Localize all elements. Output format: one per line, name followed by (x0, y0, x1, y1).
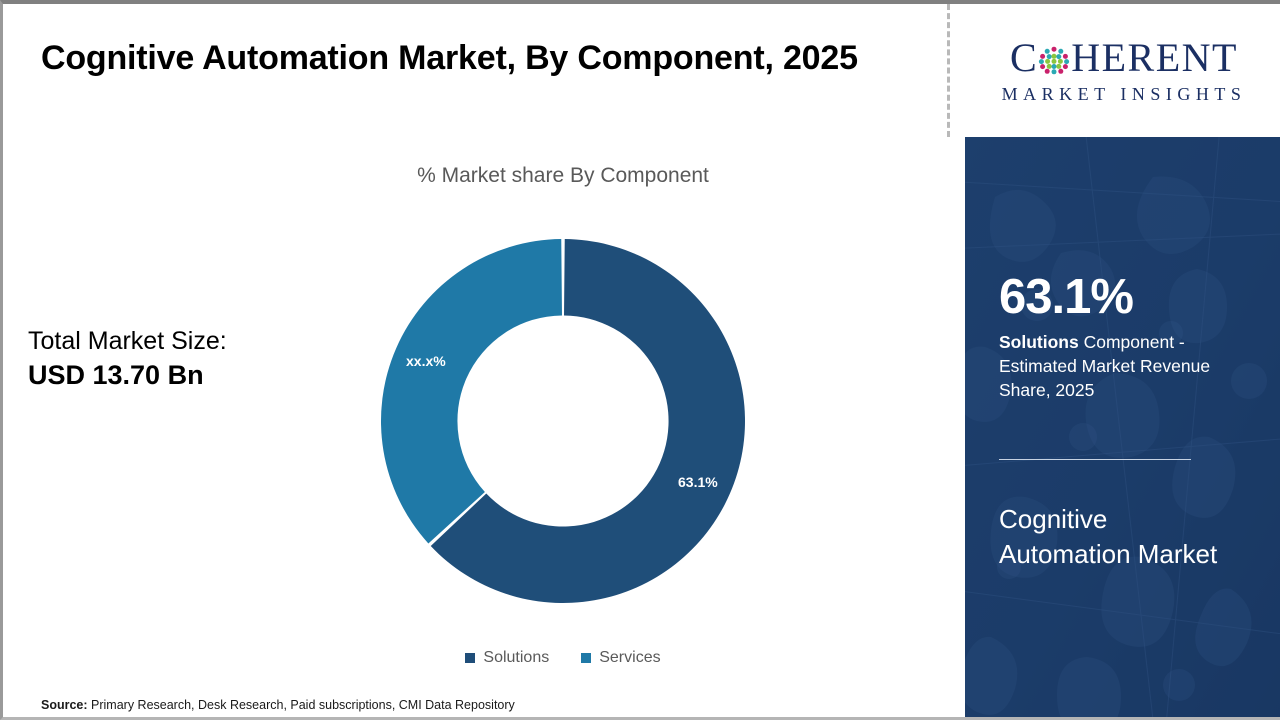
highlight-sidebar: 63.1% Solutions Component - Estimated Ma… (965, 137, 1280, 720)
sidebar-content: 63.1% Solutions Component - Estimated Ma… (999, 137, 1249, 720)
chart-subtitle: % Market share By Component (3, 164, 1123, 188)
panel-divider (947, 4, 950, 137)
total-market-size-block: Total Market Size: USD 13.70 Bn (28, 326, 358, 392)
donut-label-solutions: 63.1% (678, 474, 718, 490)
logo-word-after: HERENT (1071, 38, 1238, 78)
legend-swatch-solutions (465, 653, 475, 663)
main-content-panel: Cognitive Automation Market, By Componen… (3, 4, 950, 720)
legend-swatch-services (581, 653, 591, 663)
chart-legend: Solutions Services (3, 649, 1123, 667)
sidebar-market-name: Cognitive Automation Market (999, 502, 1234, 571)
donut-chart: xx.x% 63.1% (378, 236, 748, 606)
logo-word-before: C (1010, 38, 1038, 78)
total-market-size-label: Total Market Size: (28, 326, 358, 358)
page-title: Cognitive Automation Market, By Componen… (41, 34, 881, 84)
donut-chart-svg (378, 236, 748, 606)
legend-label-solutions: Solutions (483, 649, 549, 667)
total-market-size-value: USD 13.70 Bn (28, 358, 358, 392)
legend-label-services: Services (599, 649, 660, 667)
logo-wordmark: C (1010, 38, 1238, 78)
stat-description: Solutions Component - Estimated Market R… (999, 331, 1237, 402)
infographic-page: Cognitive Automation Market, By Componen… (0, 0, 1280, 720)
sidebar-divider (999, 459, 1191, 460)
stat-percentage: 63.1% (999, 273, 1133, 322)
stat-description-strong: Solutions (999, 332, 1079, 352)
legend-item-services[interactable]: Services (581, 649, 660, 667)
brand-logo: C (965, 4, 1280, 137)
globe-dots-icon (1038, 44, 1070, 76)
donut-label-services: xx.x% (406, 353, 446, 369)
source-value: Primary Research, Desk Research, Paid su… (88, 698, 515, 712)
source-label: Source: (41, 698, 88, 712)
legend-item-solutions[interactable]: Solutions (465, 649, 549, 667)
source-note: Source: Primary Research, Desk Research,… (41, 698, 515, 712)
logo-tagline: MARKET INSIGHTS (1002, 85, 1247, 103)
donut-slice-services[interactable] (381, 239, 562, 543)
